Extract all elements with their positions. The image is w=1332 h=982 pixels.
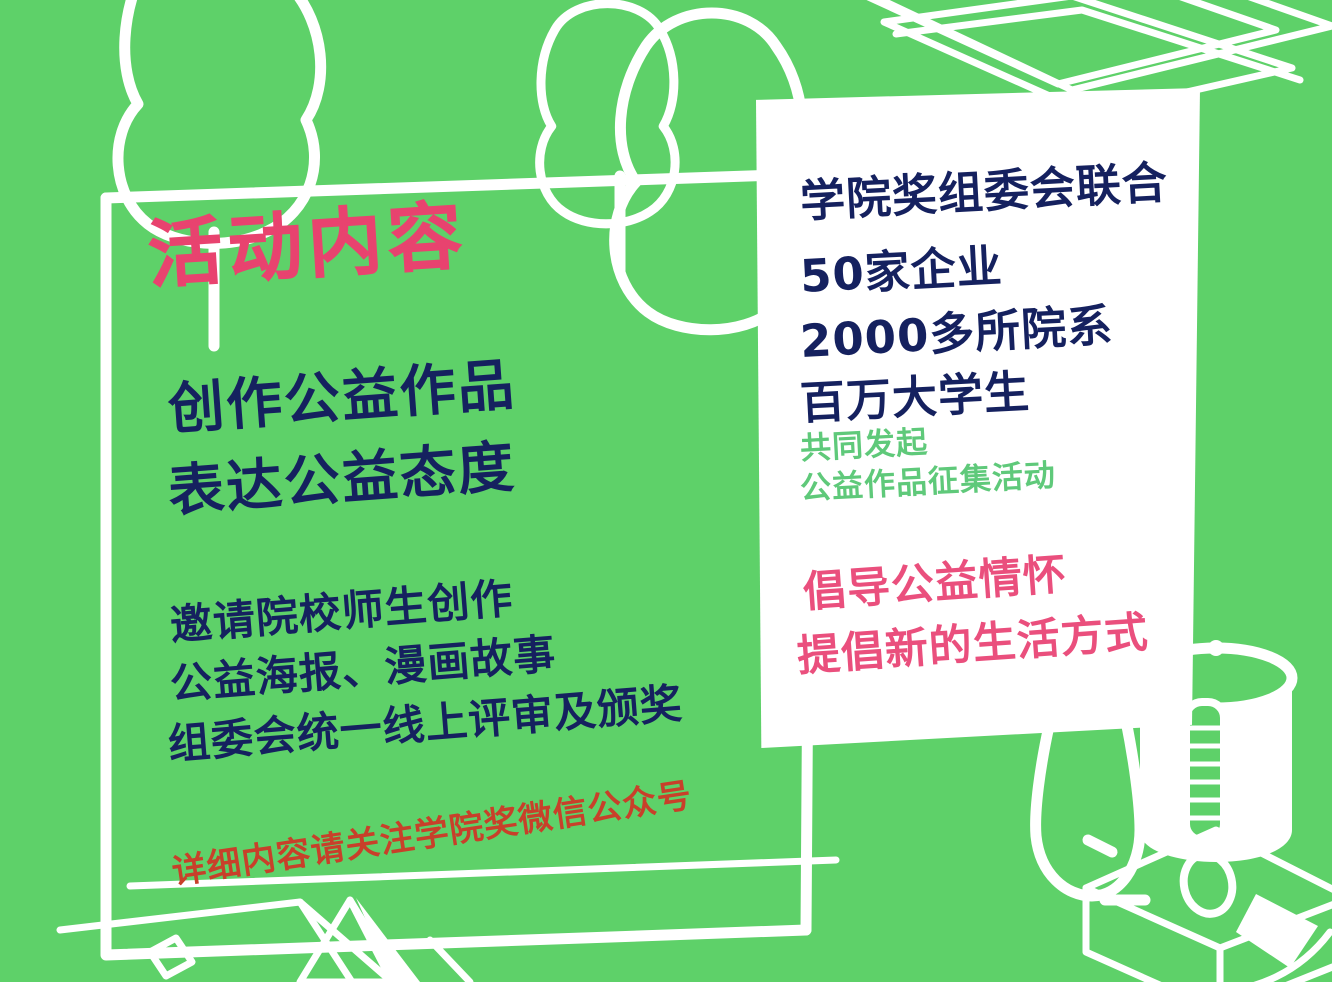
page-title: 活动内容 (145, 176, 471, 303)
poster-canvas: .wl{fill:none;stroke:#ffffff;stroke-widt… (0, 0, 1332, 982)
geometric-cone-icon (60, 898, 470, 982)
tree-pointed-icon (540, 4, 675, 270)
isometric-box-icon (1086, 830, 1332, 982)
card-navy-line-2: 50家企业 (798, 229, 1004, 305)
footnote-wechat-notice: 详细内容请关注学院奖微信公众号 (168, 768, 694, 894)
